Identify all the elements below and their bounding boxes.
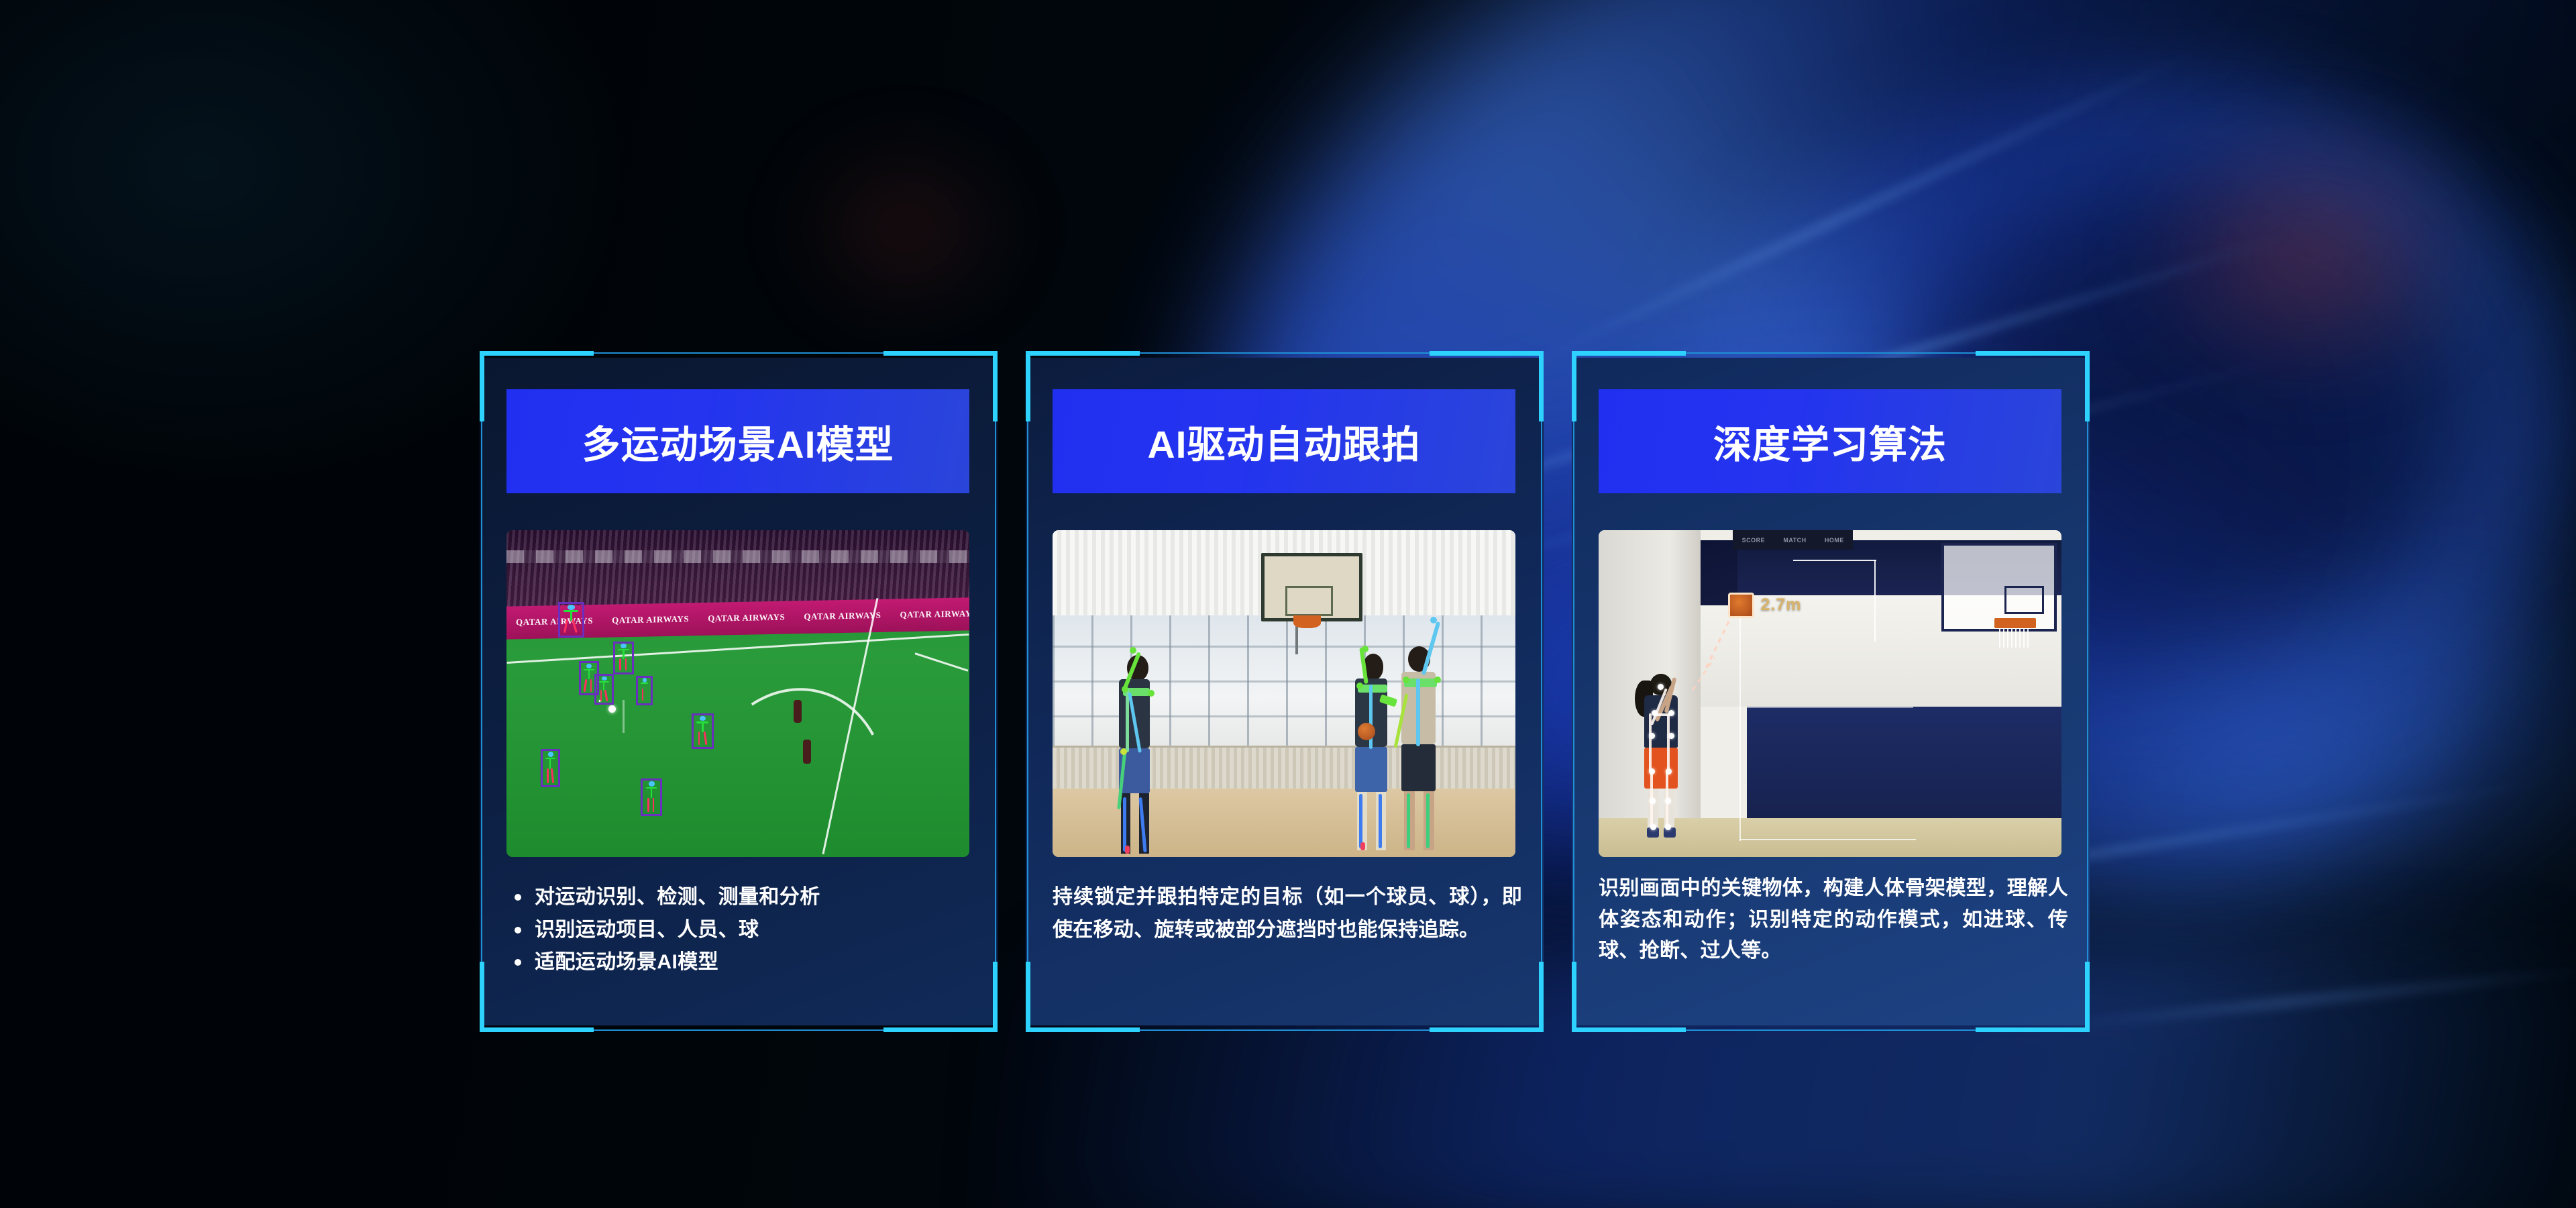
ball-detection-box xyxy=(1728,593,1754,619)
frame-line-top xyxy=(1686,352,1976,354)
corner-bracket-bottom-right xyxy=(1430,1027,1544,1032)
corner-bracket-top-right xyxy=(1976,351,2090,356)
ad-board-text: QATAR AIRWAYS xyxy=(698,612,794,625)
detection-box xyxy=(541,749,560,787)
slide-stage: 多运动场景AI模型 QATAR AIRWAYS QATAR AIRWAYS QA… xyxy=(0,0,2576,1208)
feature-bullet-list: 对运动识别、检测、测量和分析 识别运动项目、人员、球 适配运动场景AI模型 xyxy=(506,881,976,979)
ad-board-text: QATAR AIRWAYS xyxy=(506,615,602,628)
frame-line-top xyxy=(594,352,883,354)
card-description: 持续锁定并跟拍特定的目标（如一个球员、球），即使在移动、旋转或被部分遮挡时也能保… xyxy=(1053,881,1522,946)
frame-line-left xyxy=(1027,421,1028,962)
frame-line-right xyxy=(1541,421,1542,962)
card-title: 多运动场景AI模型 xyxy=(582,414,894,469)
corner-bracket-bottom-right xyxy=(1976,1027,2090,1032)
scoreboard-label: HOME xyxy=(1825,537,1844,544)
card-title-banner: 深度学习算法 xyxy=(1599,389,2061,493)
player-figure xyxy=(794,700,802,723)
corner-bracket-bottom-left xyxy=(1026,1027,1140,1032)
detection-box xyxy=(594,674,614,705)
frame-line-bottom xyxy=(1686,1029,1976,1031)
frame-line-bottom xyxy=(1140,1029,1430,1031)
list-item: 对运动识别、检测、测量和分析 xyxy=(506,881,976,914)
basketball-backboard xyxy=(1261,553,1363,621)
basketball-net xyxy=(1999,628,2031,648)
ad-board-text: QATAR AIRWAYS xyxy=(602,614,698,627)
measurement-drop-line xyxy=(1739,605,1741,841)
background-streak xyxy=(2014,962,2576,1037)
ad-board-text: QATAR AIRWAYS xyxy=(794,610,890,623)
detection-box xyxy=(692,713,714,750)
ad-board-text: QATAR AIRWAYS xyxy=(890,608,969,621)
list-item: 识别运动项目、人员、球 xyxy=(506,914,976,947)
detection-box xyxy=(636,676,653,705)
scoreboard-label: MATCH xyxy=(1783,537,1806,544)
card-title: AI驱动自动跟拍 xyxy=(1148,414,1421,469)
measurement-line-vertical xyxy=(1874,560,1876,642)
court-wall-navy-lower xyxy=(1747,707,2061,818)
corner-bracket-top-left xyxy=(480,351,484,421)
background-streak xyxy=(1498,32,2232,382)
corner-bracket-bottom-left xyxy=(480,1027,594,1032)
measurement-line-horizontal xyxy=(1793,560,1876,561)
detection-box xyxy=(613,642,635,675)
feature-card-row: 多运动场景AI模型 QATAR AIRWAYS QATAR AIRWAYS QA… xyxy=(480,351,2090,1032)
frame-line-left xyxy=(481,421,482,962)
player-pose-skeleton xyxy=(1104,651,1169,854)
measurement-guide xyxy=(1747,707,1913,708)
player-figure xyxy=(803,740,811,764)
card-title-banner: 多运动场景AI模型 xyxy=(506,389,969,493)
gym-basketball-pose-thumbnail xyxy=(1053,530,1515,857)
corner-bracket-top-right xyxy=(1539,351,1544,421)
corner-bracket-top-left xyxy=(480,351,594,356)
card-title: 深度学习算法 xyxy=(1713,414,1947,469)
frame-line-right xyxy=(2087,421,2088,962)
detection-box xyxy=(558,602,584,638)
match-ball xyxy=(608,705,616,713)
corner-bracket-top-right xyxy=(2085,351,2090,421)
corner-bracket-bottom-right xyxy=(1539,962,1544,1032)
corner-bracket-bottom-left xyxy=(1026,962,1030,1032)
player-pose-skeleton xyxy=(1631,674,1691,838)
measurement-base-line xyxy=(1739,839,1915,840)
background-warm-glow-left xyxy=(792,134,1020,322)
corner-bracket-top-left xyxy=(1026,351,1140,356)
corner-bracket-top-left xyxy=(1026,351,1030,421)
card-title-banner: AI驱动自动跟拍 xyxy=(1053,389,1515,493)
corner-bracket-bottom-left xyxy=(1572,962,1576,1032)
soccer-pitch-detection-thumbnail: QATAR AIRWAYS QATAR AIRWAYS QATAR AIRWAY… xyxy=(506,530,969,857)
corner-bracket-bottom-left xyxy=(1572,1027,1686,1032)
stadium-crowd xyxy=(506,530,969,609)
corner-bracket-top-left xyxy=(1572,351,1686,356)
card-body: 持续锁定并跟拍特定的目标（如一个球员、球），即使在移动、旋转或被部分遮挡时也能保… xyxy=(1053,881,1522,946)
scoreboard-label: SCORE xyxy=(1742,537,1766,544)
basketball-rim xyxy=(1994,618,2036,628)
corner-bracket-bottom-right xyxy=(993,962,998,1032)
court-shot-measurement-thumbnail: SCORE MATCH HOME 2.7m xyxy=(1599,530,2061,857)
card-body: 识别画面中的关键物体，构建人体骨架模型，理解人体姿态和动作；识别特定的动作模式，… xyxy=(1599,873,2068,967)
feature-card-deep-learning-algorithm[interactable]: 深度学习算法 SCORE MATCH HOME xyxy=(1572,351,2090,1032)
card-description: 识别画面中的关键物体，构建人体骨架模型，理解人体姿态和动作；识别特定的动作模式，… xyxy=(1599,873,2068,967)
feature-card-multi-sport-ai-model[interactable]: 多运动场景AI模型 QATAR AIRWAYS QATAR AIRWAYS QA… xyxy=(480,351,998,1032)
measurement-label: 2.7m xyxy=(1761,595,1802,615)
corner-bracket-top-right xyxy=(1430,351,1544,356)
scoreboard: SCORE MATCH HOME xyxy=(1733,530,1853,550)
list-item: 适配运动场景AI模型 xyxy=(506,946,976,979)
player-pose-skeleton xyxy=(1386,638,1456,851)
frame-line-left xyxy=(1573,421,1574,962)
frame-line-top xyxy=(1140,352,1430,354)
corner-bracket-top-right xyxy=(993,351,998,421)
feature-card-ai-auto-tracking[interactable]: AI驱动自动跟拍 xyxy=(1026,351,1544,1032)
frame-line-right xyxy=(995,421,996,962)
background-warm-glow-right xyxy=(2133,121,2482,389)
frame-line-bottom xyxy=(594,1029,883,1031)
corner-bracket-bottom-right xyxy=(883,1027,998,1032)
basketball-hoop xyxy=(1293,615,1321,628)
corner-bracket-bottom-right xyxy=(2085,962,2090,1032)
corner-bracket-top-left xyxy=(1572,351,1576,421)
detection-box xyxy=(641,778,662,816)
corner-bracket-bottom-left xyxy=(480,962,484,1032)
corner-bracket-top-right xyxy=(883,351,998,356)
card-body: 对运动识别、检测、测量和分析 识别运动项目、人员、球 适配运动场景AI模型 xyxy=(506,881,976,979)
pitch-line xyxy=(623,700,625,733)
